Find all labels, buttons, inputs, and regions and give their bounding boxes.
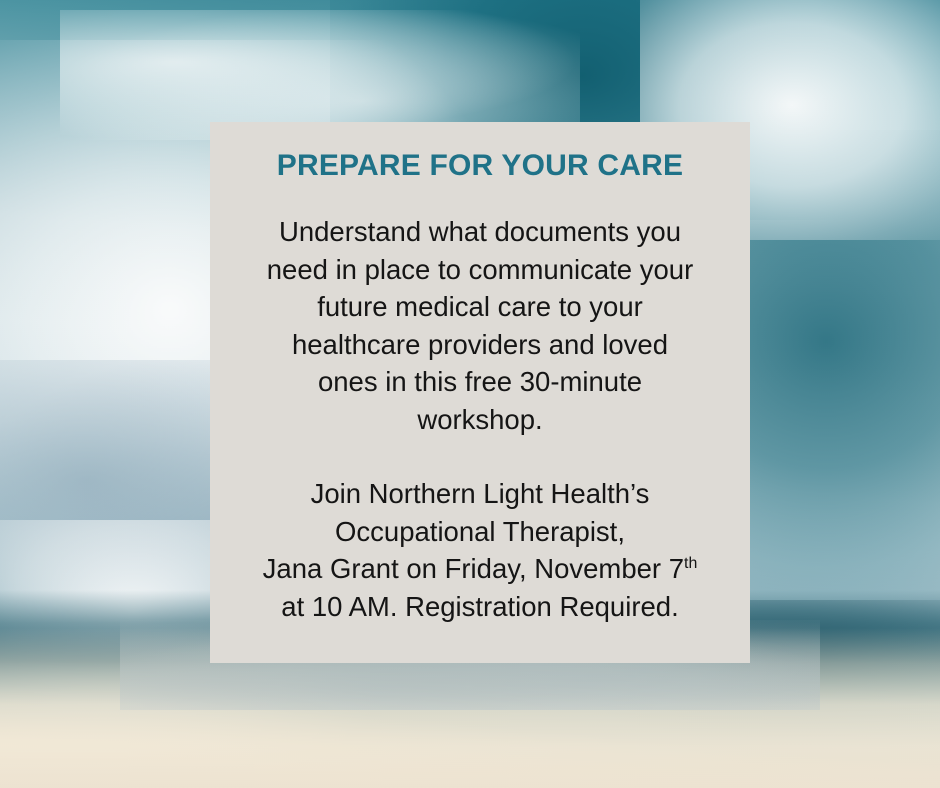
description-line-3: future medical care to your [317, 291, 643, 322]
cloud-top-wisps [60, 10, 580, 140]
description-line-5: ones in this free 30-minute [318, 366, 642, 397]
text-card: PREPARE FOR YOUR CARE Understand what do… [210, 122, 750, 663]
poster: PREPARE FOR YOUR CARE Understand what do… [0, 0, 940, 788]
description-line-2: need in place to communicate your [267, 254, 694, 285]
event-date-line: Jana Grant on Friday, November 7th [263, 553, 698, 584]
event-details-paragraph: Join Northern Light Health’s Occupationa… [240, 475, 720, 625]
description-line-6: workshop. [417, 404, 542, 435]
workshop-description-paragraph: Understand what documents you need in pl… [240, 213, 720, 438]
event-line-1: Join Northern Light Health’s [311, 478, 650, 509]
event-date-ordinal-suffix: th [684, 555, 697, 572]
description-line-1: Understand what documents you [279, 216, 681, 247]
page-title: PREPARE FOR YOUR CARE [240, 148, 720, 184]
description-line-4: healthcare providers and loved [292, 329, 668, 360]
event-date-text: Jana Grant on Friday, November 7 [263, 553, 684, 584]
event-time-line: at 10 AM. Registration Required. [281, 591, 678, 622]
event-line-2: Occupational Therapist, [335, 516, 625, 547]
